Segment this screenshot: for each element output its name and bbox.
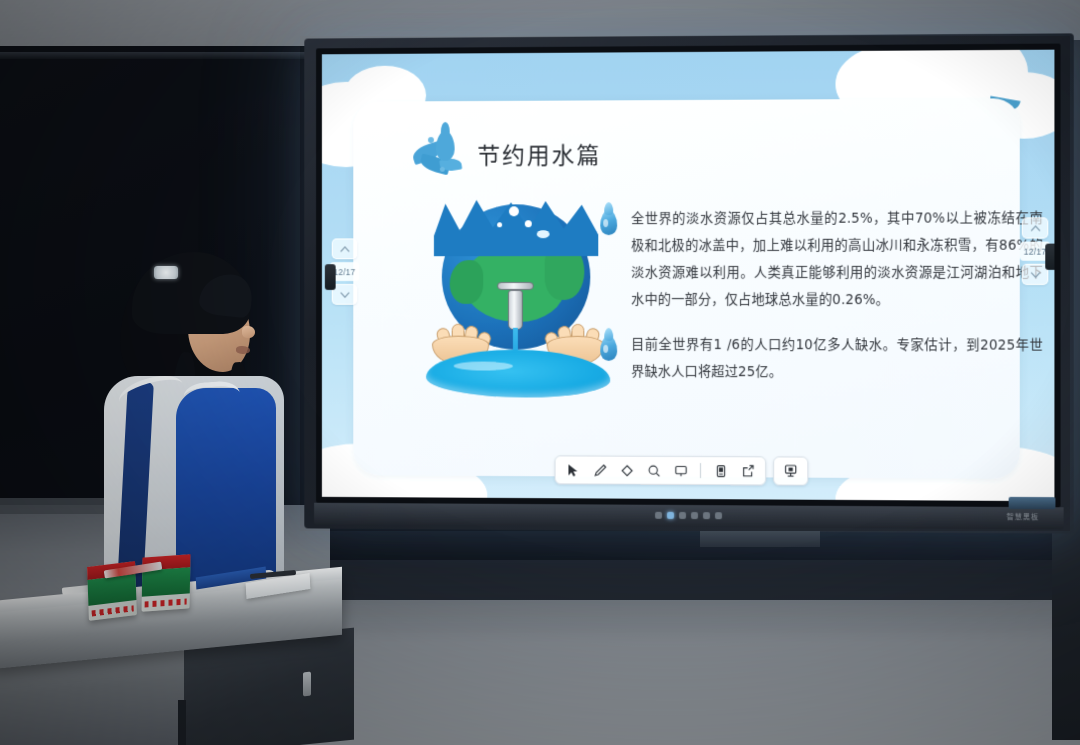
shirt-collar — [183, 380, 241, 416]
board-brand-label: 智慧黑板 — [1007, 512, 1040, 522]
podium-leg — [178, 700, 186, 745]
magnifier-icon[interactable] — [641, 460, 666, 481]
earth-faucet-hands-icon — [424, 200, 612, 400]
bullet-paragraph: 目前全世界有1 /6的人口约10亿多人缺水。专家估计，到2025年世界缺水人口将… — [600, 332, 1043, 387]
board-side-badge — [1009, 497, 1056, 509]
board-button[interactable] — [691, 512, 698, 519]
slide-toolbar[interactable] — [555, 455, 809, 485]
smartboard-stand — [700, 531, 820, 547]
board-button[interactable] — [679, 512, 686, 519]
smartboard-control-bar[interactable]: 智慧黑板 — [314, 503, 1064, 530]
screenshot-root: 节约用水篇 — [0, 0, 1080, 745]
board-button[interactable] — [703, 512, 710, 519]
slide-content-card: 节约用水篇 — [353, 98, 1020, 478]
slide-toolbar-group — [555, 455, 767, 485]
spotlight-icon[interactable] — [668, 460, 693, 481]
presenter-student — [96, 252, 311, 612]
pen-icon[interactable] — [587, 460, 612, 481]
phone-remote-icon[interactable] — [708, 460, 733, 481]
nav-grip-handle[interactable] — [325, 264, 336, 290]
board-power-button[interactable] — [667, 512, 674, 519]
smartboard-screen[interactable]: 节约用水篇 — [322, 50, 1055, 502]
smartboard-buttons[interactable] — [655, 512, 722, 519]
bubble-icon — [525, 220, 532, 227]
nose — [242, 326, 255, 338]
bullet-paragraph: 全世界的淡水资源仅占其总水量的2.5%，其中70%以上被冻结在南极和北极的冰盖中… — [600, 205, 1043, 314]
paragraph-text: 全世界的淡水资源仅占其总水量的2.5%，其中70%以上被冻结在南极和北极的冰盖中… — [631, 205, 1043, 314]
prev-page-button[interactable] — [332, 238, 357, 259]
slide-title-row: 节约用水篇 — [410, 128, 601, 178]
cursor-arrow-icon[interactable] — [561, 459, 586, 480]
board-button[interactable] — [655, 512, 662, 519]
water-drop-icon — [600, 210, 617, 235]
paragraph-text: 目前全世界有1 /6的人口约10亿多人缺水。专家估计，到2025年世界缺水人口将… — [631, 332, 1043, 387]
faucet-icon — [501, 278, 529, 330]
presentation-screen-icon[interactable] — [773, 456, 808, 485]
hair-clip-icon — [154, 266, 178, 279]
board-button[interactable] — [715, 512, 722, 519]
page-nav-right[interactable]: 12/17 — [1020, 217, 1051, 285]
bubble-icon — [537, 230, 550, 238]
nav-grip-handle[interactable] — [1045, 244, 1054, 270]
page-nav-left[interactable]: 12/17 — [330, 238, 359, 304]
water-splash-icon — [410, 129, 463, 179]
prev-page-button[interactable] — [1022, 217, 1048, 238]
bubble-icon — [509, 206, 519, 216]
cabinet-handle[interactable] — [303, 672, 311, 697]
bubble-icon — [497, 222, 502, 227]
mouth — [236, 346, 250, 354]
water-drop-icon — [600, 336, 617, 361]
slide: 节约用水篇 — [322, 50, 1055, 502]
smartboard[interactable]: 节约用水篇 — [304, 33, 1074, 533]
eraser-diamond-icon[interactable] — [614, 460, 639, 481]
page-title: 节约用水篇 — [477, 136, 601, 170]
toolbar-divider — [700, 463, 701, 478]
share-arrow-icon[interactable] — [735, 460, 760, 481]
